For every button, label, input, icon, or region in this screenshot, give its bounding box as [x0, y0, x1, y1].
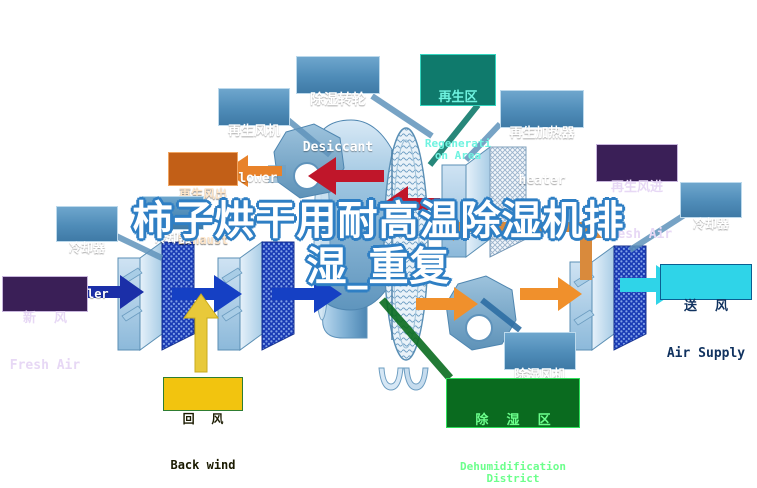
- label-dehum-blower: 除湿风机 Blower: [504, 332, 576, 370]
- label-back-wind-en: Back wind: [164, 459, 242, 472]
- label-regen-fresh-air-en: Fresh Air: [597, 228, 677, 242]
- label-air-supply: 送 风 Air Supply: [660, 264, 752, 300]
- label-dehum-district-cn: 除 湿 区: [447, 414, 579, 428]
- label-desiccant-wheel-cn: 除湿转轮: [297, 93, 379, 108]
- label-air-supply-en: Air Supply: [661, 347, 751, 361]
- label-fresh-air-cn: 新 风: [3, 312, 87, 326]
- label-cooler-right: 冷却器 Cooler: [680, 182, 742, 218]
- label-dehum-district: 除 湿 区 Dehumidification District: [446, 378, 580, 428]
- label-desiccant-wheel-en: Desiccant: [297, 141, 379, 155]
- label-desiccant-wheel: 除湿转轮 Desiccant: [296, 56, 380, 94]
- label-cooler-right-cn: 冷却器: [681, 218, 741, 231]
- label-air-supply-cn: 送 风: [661, 300, 751, 314]
- label-cooler-upper: 冷却器: [142, 196, 204, 230]
- label-regen-area: 再生区 Regenerati on Area: [420, 54, 496, 106]
- label-cooler-upper-cn: 冷却器: [143, 232, 203, 245]
- label-regen-area-en: Regenerati on Area: [421, 138, 495, 162]
- diagram-canvas: 除湿转轮 Desiccant 再生风机 Blower 再生风出 Exhaust …: [0, 0, 757, 488]
- label-regen-exhaust: 再生风出 Exhaust: [168, 152, 238, 186]
- label-cooler-left: 冷却器 Cooler: [56, 206, 118, 242]
- label-regen-fresh-air-cn: 再生风进: [597, 181, 677, 195]
- label-regen-area-cn: 再生区: [421, 91, 495, 105]
- label-regen-blower-cn: 再生风机: [219, 125, 289, 139]
- label-back-wind: 回 风 Back wind: [163, 377, 243, 411]
- label-back-wind-cn: 回 风: [164, 413, 242, 426]
- label-regen-fresh-air: 再生风进 Fresh Air: [596, 144, 678, 182]
- label-regen-heater-cn: 再生加热器: [501, 127, 583, 141]
- label-regen-blower: 再生风机 Blower: [218, 88, 290, 126]
- label-fresh-air-en: Fresh Air: [3, 359, 87, 373]
- label-fresh-air: 新 风 Fresh Air: [2, 276, 88, 312]
- label-dehum-district-en: Dehumidification District: [447, 461, 579, 486]
- label-regen-heater-en: heater: [501, 174, 583, 188]
- label-cooler-left-cn: 冷却器: [57, 242, 117, 255]
- label-regen-heater: 再生加热器 heater: [500, 90, 584, 128]
